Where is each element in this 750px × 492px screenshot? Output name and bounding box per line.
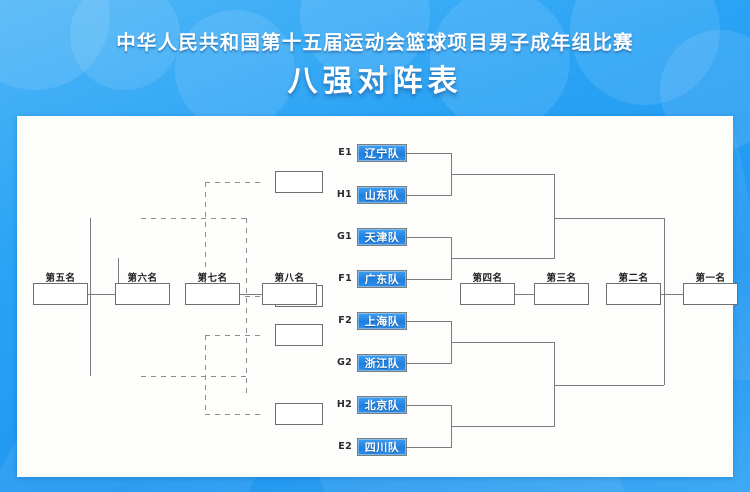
team-box-g2[interactable]: 浙江队 [357,354,407,372]
rank-box-first[interactable] [683,283,738,305]
rank-box-sixth[interactable] [115,283,170,305]
line-h1-out [407,195,451,196]
seed-label-g1: G1 [330,228,352,246]
line-qf2-to-semi [451,258,554,259]
line-rank-5-6 [88,294,115,295]
line-sf-lower-to-final [554,385,664,386]
line-sf-upper-join [554,174,555,259]
rank-label-third: 第三名 [534,270,589,284]
line-rank-4-3 [515,294,534,295]
rank-label-second: 第二名 [606,270,661,284]
seed-label-f1: F1 [330,270,352,288]
dashed-upper-cross-v [246,218,247,398]
dashed-lower-join [205,335,206,414]
team-box-f1[interactable]: 广东队 [357,270,407,288]
rank-box-second[interactable] [606,283,661,305]
rank-label-first: 第一名 [683,270,738,284]
dashed-lower-cross [141,376,246,377]
team-box-f2[interactable]: 上海队 [357,312,407,330]
dashed-lower-a [205,335,261,336]
seed-label-e2: E2 [330,438,352,456]
line-e1-out [407,153,451,154]
seed-label-e1: E1 [330,144,352,162]
line-rank-7-8 [240,294,262,295]
line-e2-out [407,447,451,448]
line-g1-out [407,237,451,238]
bracket-board: E1 辽宁队 H1 山东队 G1 天津队 F1 广东队 F2 上海队 G2 浙江… [0,0,750,492]
rank-label-sixth: 第六名 [115,270,170,284]
dashed-upper-cross [141,218,246,219]
dashed-upper-a [205,182,261,183]
rank-box-fifth[interactable] [33,283,88,305]
team-box-h2[interactable]: 北京队 [357,396,407,414]
line-f1-out [407,279,451,280]
seed-label-f2: F2 [330,312,352,330]
seed-label-h2: H2 [330,396,352,414]
line-final-trunk [664,218,665,385]
empty-box-lower-1[interactable] [275,324,323,346]
rank-box-third[interactable] [534,283,589,305]
dashed-lower-b [205,414,261,415]
bracket-poster: 中华人民共和国第十五届运动会篮球项目男子成年组比赛 八强对阵表 E1 辽宁队 H… [0,0,750,492]
rank-label-seventh: 第七名 [185,270,240,284]
line-sf-upper-to-final [554,218,664,219]
team-box-g1[interactable]: 天津队 [357,228,407,246]
seed-label-g2: G2 [330,354,352,372]
line-qf3-to-semi [451,342,554,343]
team-box-e1[interactable]: 辽宁队 [357,144,407,162]
line-qf4-to-semi [451,426,554,427]
rank-box-seventh[interactable] [185,283,240,305]
empty-box-upper-1[interactable] [275,171,323,193]
rank-box-fourth[interactable] [460,283,515,305]
empty-box-lower-2[interactable] [275,403,323,425]
line-left-trunk [90,218,91,376]
seed-label-h1: H1 [330,186,352,204]
line-f2-out [407,321,451,322]
team-box-e2[interactable]: 四川队 [357,438,407,456]
team-box-h1[interactable]: 山东队 [357,186,407,204]
rank-label-eighth: 第八名 [262,270,317,284]
line-qf1-to-semi [451,174,554,175]
line-h2-out [407,405,451,406]
line-g2-out [407,363,451,364]
rank-label-fifth: 第五名 [33,270,88,284]
rank-box-eighth[interactable] [262,283,317,305]
rank-label-fourth: 第四名 [460,270,515,284]
line-rank-2-1 [661,294,683,295]
